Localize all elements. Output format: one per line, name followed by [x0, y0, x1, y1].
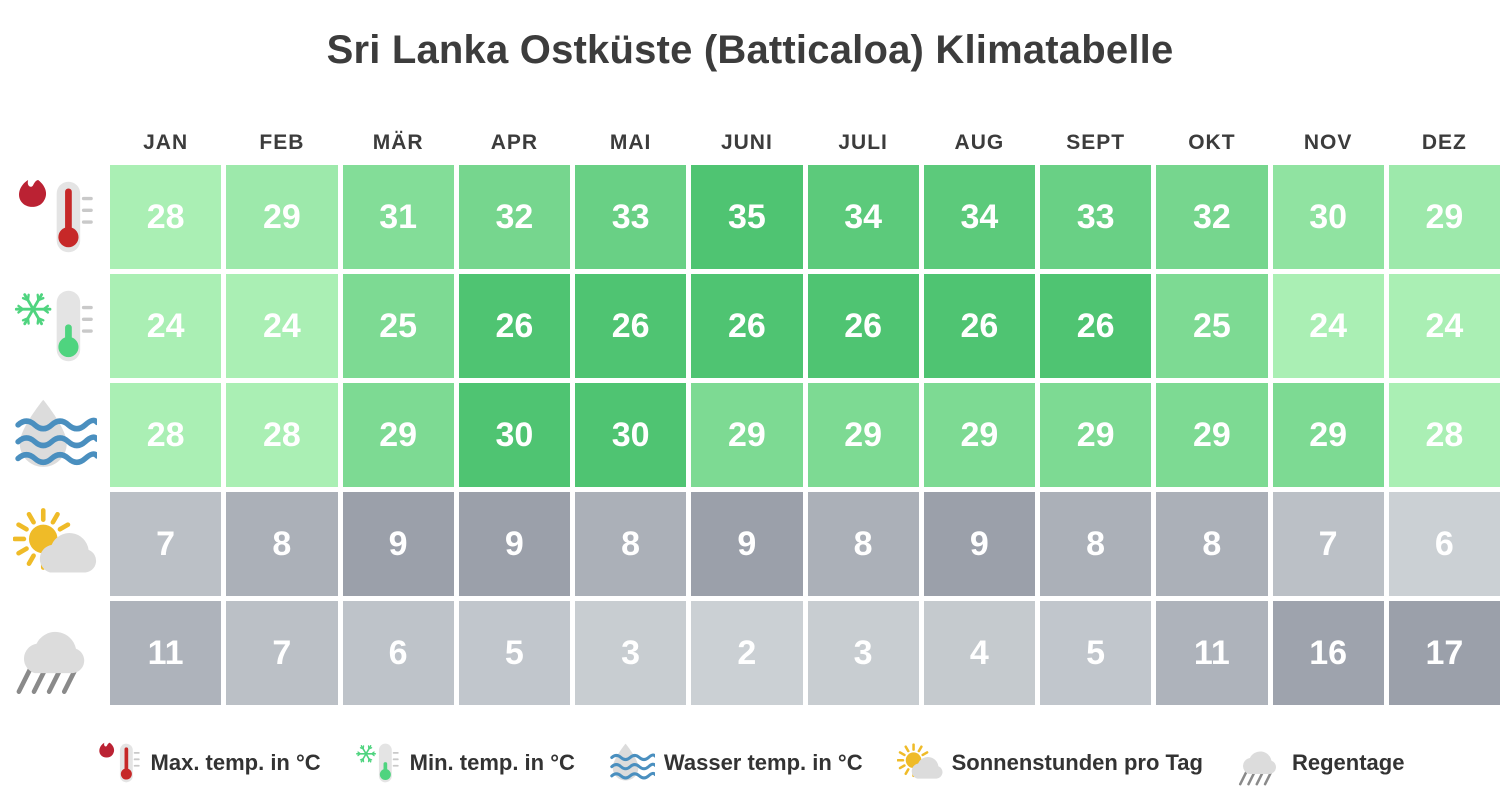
month-header-aug: AUG — [924, 131, 1035, 155]
cell-2-okt: 29 — [1156, 383, 1267, 487]
cell-0-juli: 34 — [808, 165, 919, 269]
cell-2-juli: 29 — [808, 383, 919, 487]
data-row-sun-cloud: 789989898876 — [110, 492, 1500, 596]
month-header-juni: JUNI — [691, 131, 802, 155]
cell-1-sept: 26 — [1040, 274, 1151, 378]
rain-cloud-icon — [0, 601, 110, 705]
cell-2-apr: 30 — [459, 383, 570, 487]
water-waves-icon — [609, 740, 655, 786]
climate-table-page: Sri Lanka Ostküste (Batticaloa) Klimatab… — [0, 0, 1500, 808]
cell-2-jan: 28 — [110, 383, 221, 487]
legend: Max. temp. in °CMin. temp. in °CWasser t… — [0, 718, 1500, 808]
cell-4-sept: 5 — [1040, 601, 1151, 705]
cell-3-feb: 8 — [226, 492, 337, 596]
cell-2-dez: 28 — [1389, 383, 1500, 487]
legend-item-snowflake-thermometer: Min. temp. in °C — [355, 740, 575, 786]
rain-cloud-icon — [1237, 740, 1283, 786]
month-header-nov: NOV — [1273, 131, 1384, 155]
cell-0-apr: 32 — [459, 165, 570, 269]
cell-2-aug: 29 — [924, 383, 1035, 487]
cell-2-mai: 30 — [575, 383, 686, 487]
cell-4-feb: 7 — [226, 601, 337, 705]
legend-label: Sonnenstunden pro Tag — [952, 750, 1203, 776]
cell-0-sept: 33 — [1040, 165, 1151, 269]
snowflake-thermometer-icon — [0, 274, 110, 378]
month-header-mär: MÄR — [343, 131, 454, 155]
cell-0-dez: 29 — [1389, 165, 1500, 269]
cell-4-mai: 3 — [575, 601, 686, 705]
page-title: Sri Lanka Ostküste (Batticaloa) Klimatab… — [0, 28, 1500, 73]
cell-3-juni: 9 — [691, 492, 802, 596]
cell-0-aug: 34 — [924, 165, 1035, 269]
month-header-feb: FEB — [226, 131, 337, 155]
cell-1-dez: 24 — [1389, 274, 1500, 378]
data-row-water-waves: 282829303029292929292928 — [110, 383, 1500, 487]
cell-3-nov: 7 — [1273, 492, 1384, 596]
month-header-jan: JAN — [110, 131, 221, 155]
month-header-sept: SEPT — [1040, 131, 1151, 155]
cell-1-feb: 24 — [226, 274, 337, 378]
cell-0-jan: 28 — [110, 165, 221, 269]
legend-item-sun-cloud: Sonnenstunden pro Tag — [897, 740, 1203, 786]
month-header-okt: OKT — [1156, 131, 1267, 155]
cell-0-juni: 35 — [691, 165, 802, 269]
cell-0-mai: 33 — [575, 165, 686, 269]
legend-item-water-waves: Wasser temp. in °C — [609, 740, 863, 786]
cell-2-sept: 29 — [1040, 383, 1151, 487]
cell-1-mär: 25 — [343, 274, 454, 378]
cell-3-okt: 8 — [1156, 492, 1267, 596]
legend-label: Regentage — [1292, 750, 1404, 776]
cell-2-feb: 28 — [226, 383, 337, 487]
month-header-juli: JULI — [808, 131, 919, 155]
month-header-mai: MAI — [575, 131, 686, 155]
cell-0-feb: 29 — [226, 165, 337, 269]
cell-1-aug: 26 — [924, 274, 1035, 378]
data-row-snowflake-thermometer: 242425262626262626252424 — [110, 274, 1500, 378]
cell-3-mai: 8 — [575, 492, 686, 596]
sun-cloud-icon — [897, 740, 943, 786]
cell-1-jan: 24 — [110, 274, 221, 378]
cell-3-sept: 8 — [1040, 492, 1151, 596]
cell-3-dez: 6 — [1389, 492, 1500, 596]
sun-cloud-icon — [0, 492, 110, 596]
month-header-dez: DEZ — [1389, 131, 1500, 155]
cell-2-juni: 29 — [691, 383, 802, 487]
cell-4-mär: 6 — [343, 601, 454, 705]
cell-1-nov: 24 — [1273, 274, 1384, 378]
cell-1-apr: 26 — [459, 274, 570, 378]
flame-thermometer-icon — [96, 740, 142, 786]
legend-item-flame-thermometer: Max. temp. in °C — [96, 740, 321, 786]
legend-label: Min. temp. in °C — [410, 750, 575, 776]
legend-item-rain-cloud: Regentage — [1237, 740, 1404, 786]
cell-1-juni: 26 — [691, 274, 802, 378]
climate-grid: JANFEBMÄRAPRMAIJUNIJULIAUGSEPTOKTNOVDEZ … — [110, 120, 1500, 710]
cell-0-okt: 32 — [1156, 165, 1267, 269]
flame-thermometer-icon — [0, 165, 110, 269]
legend-label: Max. temp. in °C — [151, 750, 321, 776]
cell-2-nov: 29 — [1273, 383, 1384, 487]
cell-4-jan: 11 — [110, 601, 221, 705]
cell-4-okt: 11 — [1156, 601, 1267, 705]
cell-4-juli: 3 — [808, 601, 919, 705]
cell-1-okt: 25 — [1156, 274, 1267, 378]
cell-2-mär: 29 — [343, 383, 454, 487]
cell-4-apr: 5 — [459, 601, 570, 705]
month-header-apr: APR — [459, 131, 570, 155]
cell-3-jan: 7 — [110, 492, 221, 596]
cell-4-nov: 16 — [1273, 601, 1384, 705]
cell-3-mär: 9 — [343, 492, 454, 596]
data-rows-container: 2829313233353434333230292424252626262626… — [110, 165, 1500, 705]
legend-label: Wasser temp. in °C — [664, 750, 863, 776]
cell-4-dez: 17 — [1389, 601, 1500, 705]
cell-0-mär: 31 — [343, 165, 454, 269]
data-row-rain-cloud: 1176532345111617 — [110, 601, 1500, 705]
cell-4-aug: 4 — [924, 601, 1035, 705]
cell-4-juni: 2 — [691, 601, 802, 705]
water-waves-icon — [0, 383, 110, 487]
cell-0-nov: 30 — [1273, 165, 1384, 269]
cell-3-juli: 8 — [808, 492, 919, 596]
data-row-flame-thermometer: 282931323335343433323029 — [110, 165, 1500, 269]
cell-3-apr: 9 — [459, 492, 570, 596]
cell-1-juli: 26 — [808, 274, 919, 378]
cell-1-mai: 26 — [575, 274, 686, 378]
month-header-row: JANFEBMÄRAPRMAIJUNIJULIAUGSEPTOKTNOVDEZ — [110, 120, 1500, 165]
snowflake-thermometer-icon — [355, 740, 401, 786]
cell-3-aug: 9 — [924, 492, 1035, 596]
